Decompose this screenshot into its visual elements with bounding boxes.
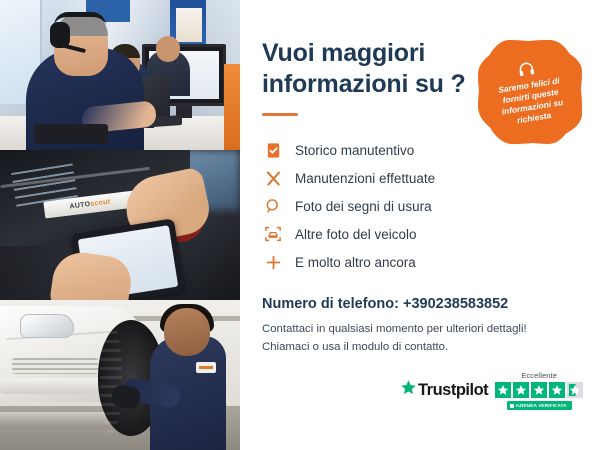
call-center-agents-photo [0, 0, 240, 150]
desk-tablet [34, 124, 108, 144]
agent-third-head [156, 36, 180, 62]
trustpilot-star-icon [400, 379, 417, 401]
trustpilot-rating-word: Eccellente [521, 371, 557, 380]
contact-line-1: Contattaci in qualsiasi momento per ulte… [262, 321, 578, 339]
request-info-seal: Saremo felici di fornirti queste informa… [478, 40, 582, 144]
feature-item-molto-altro: E molto altro ancora [262, 248, 578, 276]
promo-banner: AUTOscout Vuoi [0, 0, 600, 450]
car-grille [12, 358, 98, 374]
phone-number-line: Numero di telefono: +390238583852 [262, 296, 578, 312]
star-filled [549, 382, 565, 398]
uniform-badge [196, 362, 216, 373]
feature-list: Storico manutentivo Manutenzioni effettu… [262, 136, 578, 276]
star-filled [513, 382, 529, 398]
verified-label: AZIENDA VERIFICATA [516, 403, 567, 408]
photo-column: AUTOscout [0, 0, 240, 450]
feature-item-foto-segni-usura: Foto dei segni di usura [262, 192, 578, 220]
star-filled [495, 382, 511, 398]
document-check-icon [262, 139, 284, 161]
title-divider [262, 113, 298, 116]
mechanic-wheel-service-photo [0, 300, 240, 450]
magnifier-icon [262, 195, 284, 217]
feature-label: E molto altro ancora [295, 255, 416, 270]
feature-label: Foto dei segni di usura [295, 199, 432, 214]
verified-check-icon [510, 404, 514, 408]
car-bumper [0, 378, 112, 394]
phone-label: Numero di telefono: [262, 296, 399, 312]
tyre-tread [100, 322, 122, 434]
mechanic-head [164, 308, 210, 356]
trustpilot-wordmark: Trustpilot [418, 381, 488, 400]
verified-business-badge: AZIENDA VERIFICATA [507, 401, 572, 410]
feature-label: Storico manutentivo [295, 143, 414, 158]
contact-line-2: Chiamaci o usa il modulo di contatto. [262, 339, 578, 357]
tablet-vehicle-inspection-photo: AUTOscout [0, 150, 240, 300]
feature-item-manutenzioni-effettuate: Manutenzioni effettuate [262, 164, 578, 192]
trustpilot-rating: Eccellente [495, 371, 583, 410]
feature-item-altre-foto-veicolo: Altre foto del veicolo [262, 220, 578, 248]
star-filled [531, 382, 547, 398]
feature-label: Altre foto del veicolo [295, 227, 417, 242]
orange-wall-strip [224, 64, 240, 150]
content-panel: Vuoi maggiori informazioni su ? Saremo f… [240, 0, 600, 450]
trustpilot-stars [495, 382, 583, 398]
trustpilot-widget[interactable]: Trustpilot Eccellente [400, 371, 583, 410]
seal-text: Saremo felici di fornirti queste informa… [487, 73, 577, 130]
headset-icon [516, 59, 537, 80]
contact-instructions: Contattaci in qualsiasi momento per ulte… [262, 321, 578, 356]
phone-number[interactable]: +390238583852 [403, 296, 508, 312]
star-partial [567, 382, 583, 398]
crossed-tools-icon [262, 167, 284, 189]
wall-poster [176, 8, 202, 42]
car-frame-icon [262, 223, 284, 245]
feature-label: Manutenzioni effettuate [295, 171, 435, 186]
plus-icon [262, 251, 284, 273]
trustpilot-logo: Trustpilot [400, 371, 488, 401]
page-title: Vuoi maggiori informazioni su ? [262, 38, 472, 99]
car-headlight [20, 314, 74, 338]
